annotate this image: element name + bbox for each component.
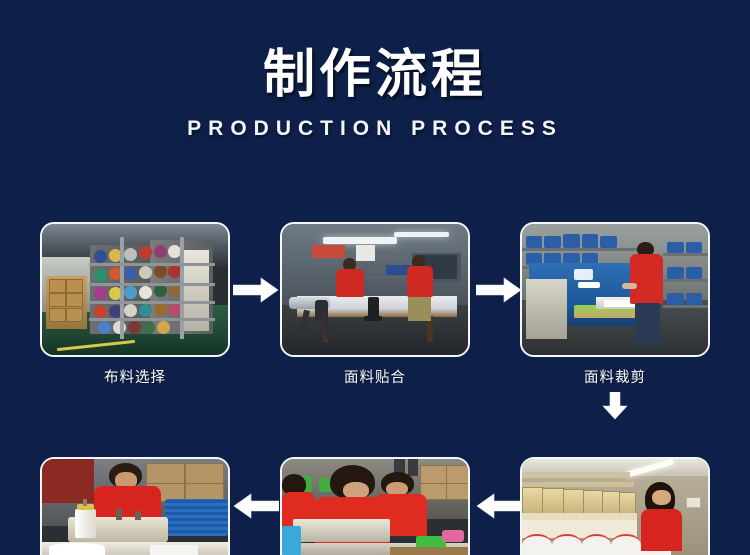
sewing-operator-photo bbox=[40, 457, 230, 555]
process-step-1-caption: 布料选择 bbox=[40, 366, 230, 387]
embroidery-machine-scene bbox=[522, 459, 708, 555]
process-step-3[interactable]: 面料裁剪 bbox=[520, 222, 710, 387]
arrow-step1-to-step2-icon bbox=[233, 277, 279, 303]
process-step-6[interactable] bbox=[520, 457, 710, 555]
process-step-2-caption: 面料贴合 bbox=[280, 366, 470, 387]
process-row-bottom bbox=[0, 457, 750, 555]
fabric-cutting-photo bbox=[520, 222, 710, 357]
process-step-5[interactable] bbox=[280, 457, 470, 555]
process-step-3-caption: 面料裁剪 bbox=[520, 366, 710, 387]
process-step-2[interactable]: 面料贴合 bbox=[280, 222, 470, 387]
arrow-step3-to-step6-icon bbox=[602, 392, 628, 420]
sewing-line-photo bbox=[280, 457, 470, 555]
fabric-warehouse-photo bbox=[40, 222, 230, 357]
fabric-bonding-photo bbox=[280, 222, 470, 357]
sewing-line-scene bbox=[282, 459, 468, 555]
page-header: 制作流程 PRODUCTION PROCESS bbox=[0, 0, 750, 141]
page-subtitle: PRODUCTION PROCESS bbox=[0, 117, 750, 141]
sewing-operator-scene bbox=[42, 459, 228, 555]
embroidery-machine-photo bbox=[520, 457, 710, 555]
process-row-top: 布料选择 bbox=[0, 222, 750, 387]
production-process-grid: 布料选择 bbox=[0, 222, 750, 555]
fabric-warehouse-scene bbox=[42, 224, 228, 355]
fabric-cutting-scene bbox=[522, 224, 708, 355]
process-step-1[interactable]: 布料选择 bbox=[40, 222, 230, 387]
arrow-step6-to-step5-icon bbox=[476, 493, 522, 519]
page-title: 制作流程 bbox=[0, 48, 750, 103]
arrow-step2-to-step3-icon bbox=[476, 277, 522, 303]
process-step-4[interactable] bbox=[40, 457, 230, 555]
arrow-step5-to-step4-icon bbox=[233, 493, 279, 519]
fabric-bonding-scene bbox=[282, 224, 468, 355]
